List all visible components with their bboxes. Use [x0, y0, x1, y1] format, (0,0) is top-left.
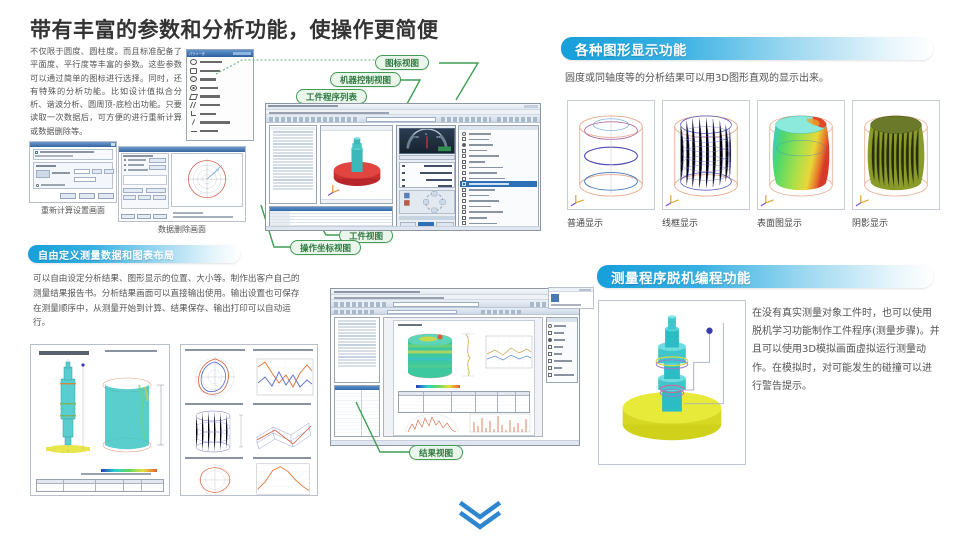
svg-text:0: 0 [425, 132, 427, 136]
section-header-layout: 自由定义测量数据和图表布局 [28, 245, 240, 263]
result-values-pane [334, 385, 380, 437]
jog-control-pad [399, 190, 455, 214]
page-title: 带有丰富的参数和分析功能，使操作更简便 [30, 14, 439, 44]
thumb-wireframe [662, 100, 750, 210]
thumb-normal [567, 100, 655, 210]
double-chevron-down-icon[interactable] [456, 500, 504, 530]
section-body-offline: 在没有真实测量对象工件时，也可以使用脱机学习功能制作工件程序(测量步骤)。并且可… [752, 305, 940, 396]
workpiece-3d-view [320, 125, 393, 204]
callout-icon-view: 图标视图 [375, 55, 429, 70]
callout-result-view: 结果视图 [409, 445, 463, 460]
callout-coord-view: 操作坐标视图 [290, 240, 361, 255]
thumb-caption-normal: 普通显示 [560, 216, 660, 229]
thumb-shaded [852, 100, 940, 210]
param-panel-title: パラメータ [189, 51, 205, 56]
recalc-dialog-screenshot [29, 141, 117, 203]
report-page-right [180, 344, 318, 496]
poster-page: 带有丰富的参数和分析功能，使操作更简便 不仅限于圆度、圆柱度。而且标准配备了平面… [0, 0, 960, 540]
section-body-layout: 可以自由设定分析结果、图形显示的位置、大小等。制作出客户自己的测量结果报告书。分… [33, 272, 305, 331]
svg-text:90: 90 [436, 135, 440, 139]
measurement-data-table [269, 206, 393, 228]
svg-text:-90: -90 [414, 135, 419, 139]
intro-paragraph: 不仅限于圆度、圆柱度。而且标准配备了平面度、平行度等丰富的参数。这些参数可以通过… [30, 45, 182, 138]
report-canvas [383, 317, 543, 437]
offline-simulation-image [598, 300, 746, 465]
result-view-screenshot [330, 288, 580, 446]
program-list-pane [269, 125, 317, 204]
section-header-graphics: 各种图形显示功能 [561, 37, 933, 60]
main-software-screenshot: -90 0 90 [265, 103, 541, 231]
report-page-left [30, 344, 170, 496]
coordinate-readouts [399, 162, 455, 188]
section-header-offline: 测量程序脱机编程功能 [597, 265, 933, 288]
machine-gauge: -90 0 90 [399, 128, 455, 154]
callout-machine-control-view: 机器控制视图 [330, 72, 401, 87]
result-icon-pane [546, 317, 578, 383]
thumb-caption-shaded: 阴影显示 [845, 216, 945, 229]
section-body-graphics: 圆度或同轴度等的分析结果可以用3D图形直观的显示出来。 [565, 70, 945, 88]
thumb-surface [757, 100, 845, 210]
callout-program-list: 工件程序列表 [296, 89, 367, 104]
caption-delete: 数据删除画面 [118, 224, 246, 235]
icon-view-pane [458, 125, 539, 229]
result-tree-pane [334, 317, 380, 383]
thumb-caption-wireframe: 线框显示 [655, 216, 755, 229]
machine-control-pane: -90 0 90 [396, 125, 456, 229]
thumb-caption-surface: 表面图显示 [750, 216, 850, 229]
caption-recalc: 重新计算设置画面 [29, 205, 117, 216]
offline-window-fragment [548, 287, 594, 309]
delete-dialog-screenshot [118, 146, 246, 222]
